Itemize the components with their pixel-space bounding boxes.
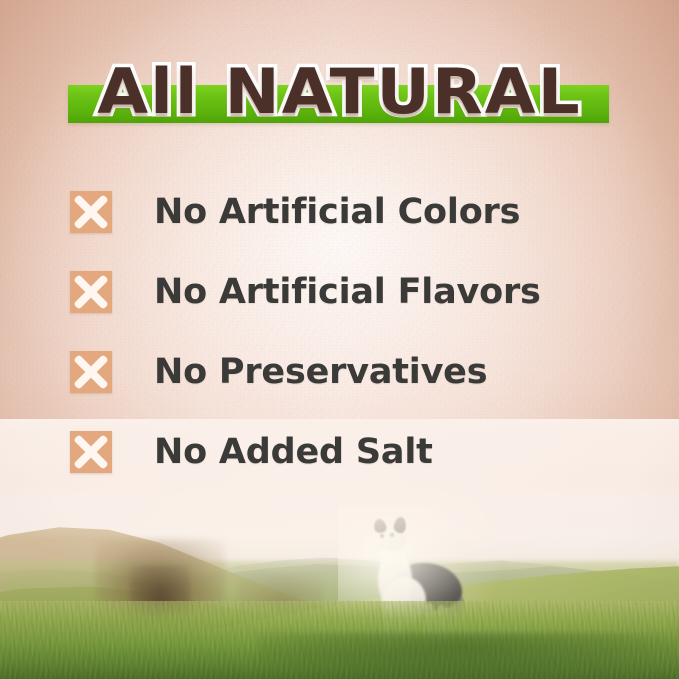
x-mark-icon <box>70 191 112 233</box>
list-item-label: No Artificial Colors <box>154 192 520 232</box>
dog-right-eye <box>390 533 394 537</box>
list-item-label: No Artificial Flavors <box>154 272 541 312</box>
benefits-list: No Artificial Colors No Artificial Flavo… <box>70 172 610 492</box>
list-item: No Artificial Flavors <box>70 252 610 332</box>
page-title: All NATURAL <box>0 48 679 136</box>
list-item: No Preservatives <box>70 332 610 412</box>
list-item: No Added Salt <box>70 412 610 492</box>
list-item: No Artificial Colors <box>70 172 610 252</box>
headline-banner: All NATURAL <box>0 48 679 140</box>
x-mark-icon <box>70 271 112 313</box>
x-mark-icon <box>70 431 112 473</box>
list-item-label: No Preservatives <box>154 352 487 392</box>
dog-right-ear <box>393 516 408 534</box>
dog-left-eye <box>380 534 384 538</box>
all-natural-poster: All NATURAL No Artificial Colors No Arti… <box>0 0 679 679</box>
grass-shadow <box>258 633 679 679</box>
list-item-label: No Added Salt <box>154 432 433 472</box>
x-mark-icon <box>70 351 112 393</box>
